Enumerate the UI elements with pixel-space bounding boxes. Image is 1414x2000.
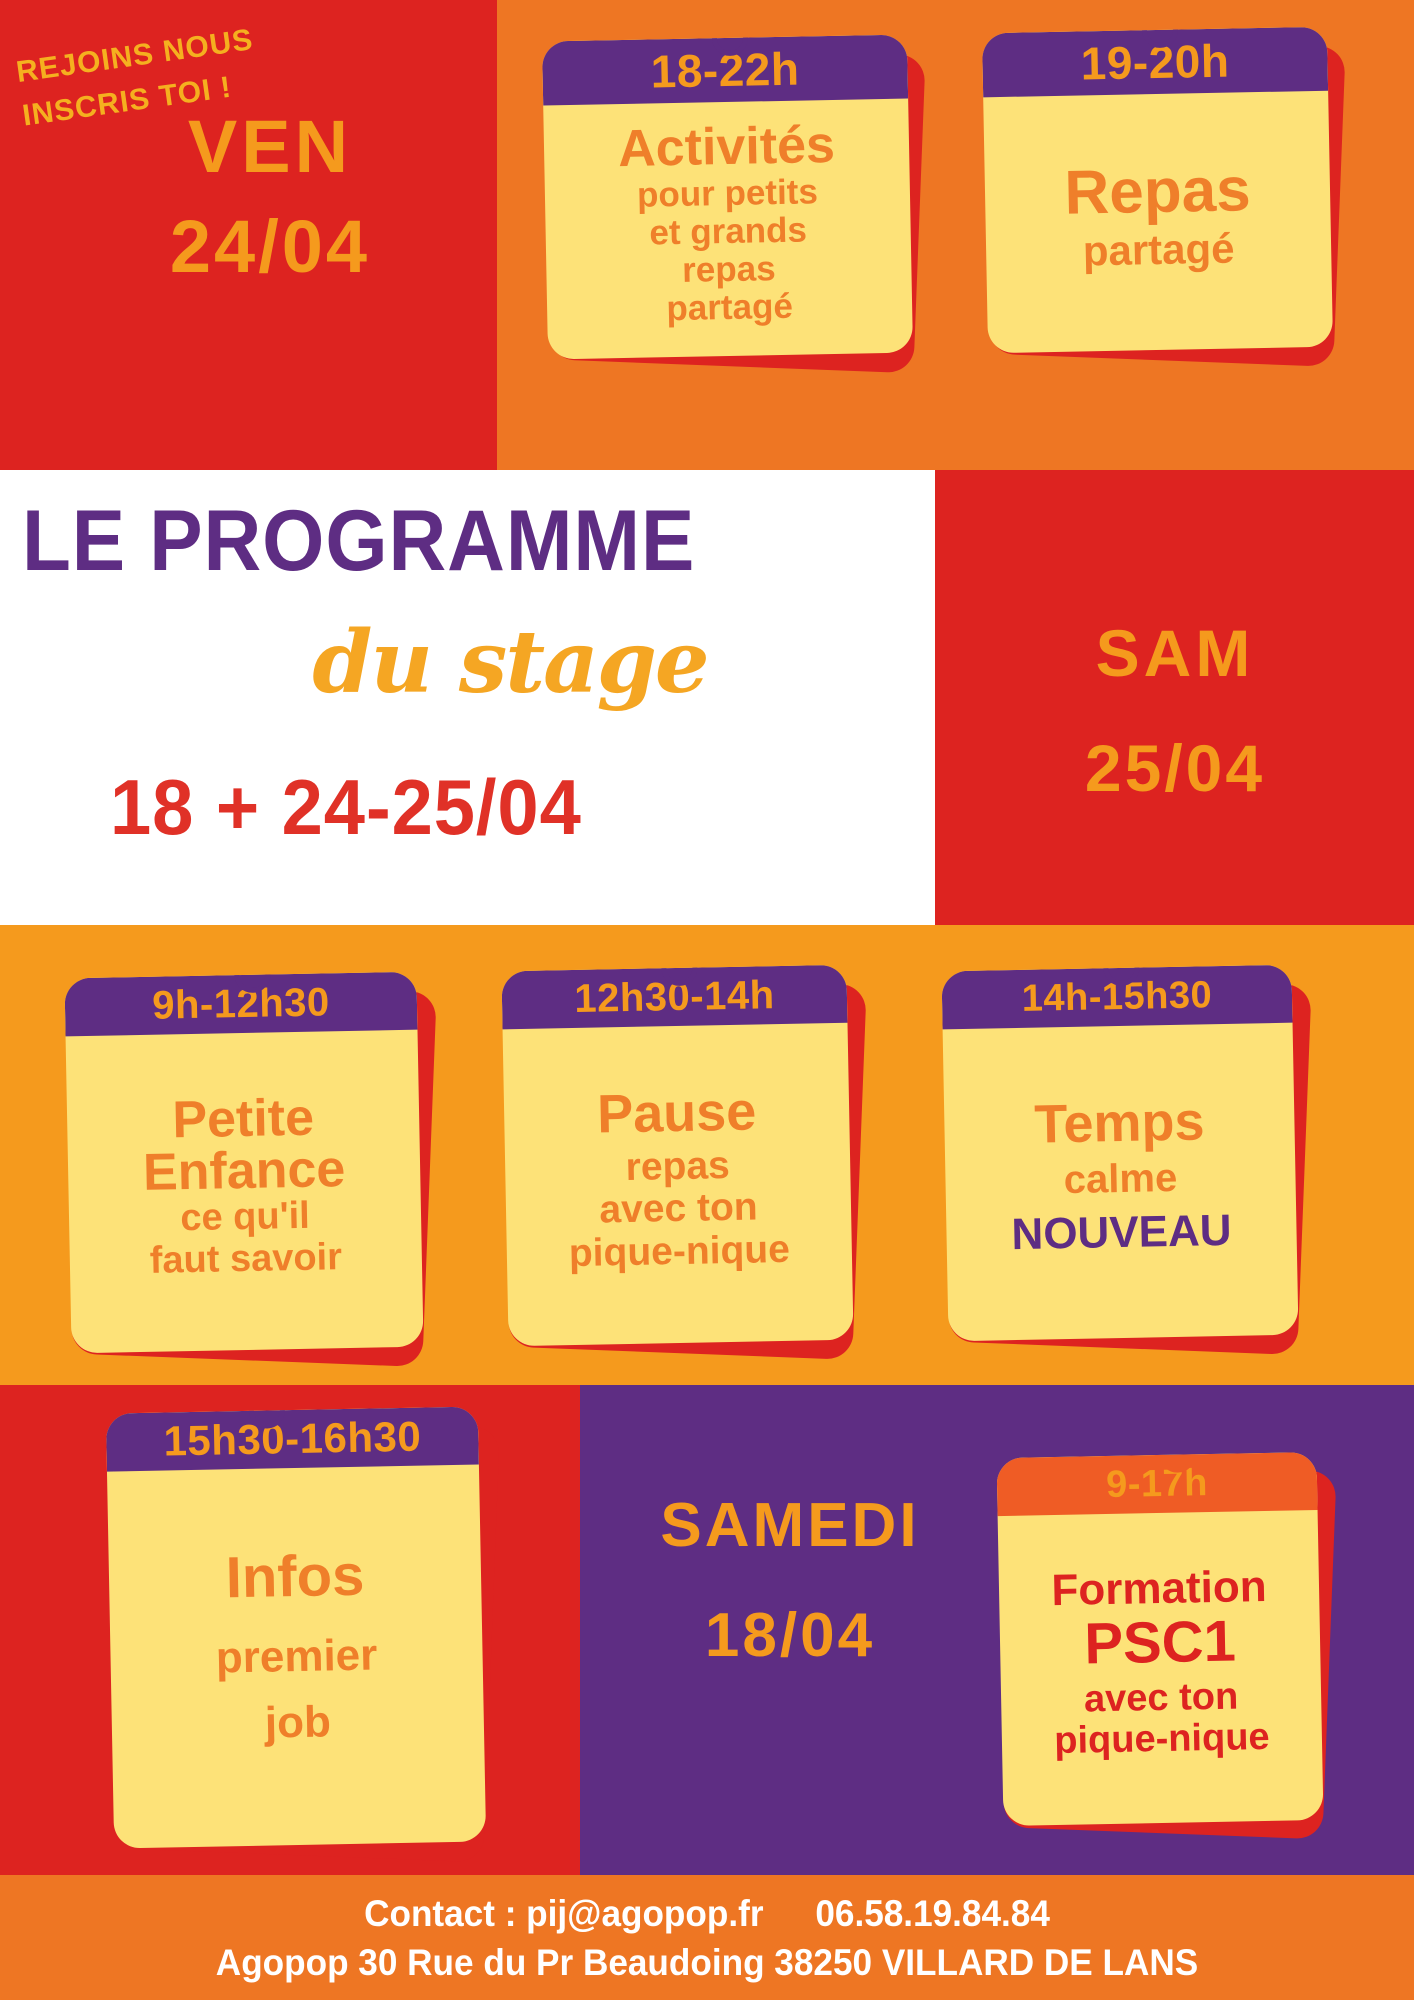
card-petite-enfance[interactable]: 9h-12h30 Petite Enfance ce qu'il faut sa…: [68, 975, 420, 1350]
card-title: Pause: [597, 1085, 757, 1142]
card-content: Repas partagé: [983, 91, 1333, 354]
card-time-header: 15h30-16h30: [106, 1406, 479, 1471]
saturday-date-label: 25/04: [960, 735, 1390, 801]
card-time-header: 12h30-14h: [501, 965, 847, 1030]
card-body: 15h30-16h30 Infos premier job: [106, 1406, 486, 1848]
footer-address: Agopop 30 Rue du Pr Beaudoing 38250 VILL…: [35, 1944, 1378, 1981]
card-title-line-2: PSC1: [1084, 1611, 1237, 1675]
poster-root: REJOINS NOUS INSCRIS TOI ! VEN 24/04 18-…: [0, 0, 1414, 2000]
footer-phone[interactable]: 06.58.19.84.84: [815, 1893, 1050, 1934]
card-line-1: calme: [1063, 1157, 1177, 1202]
card-activites[interactable]: 18-22h Activités pour petits et grands r…: [545, 38, 910, 356]
card-title: Temps: [1034, 1095, 1205, 1152]
card-line-2: et grands: [649, 212, 807, 253]
card-body: 14h-15h30 Temps calme NOUVEAU: [941, 965, 1298, 1342]
card-content: Activités pour petits et grands repas pa…: [543, 99, 913, 360]
saturday-red-panel: [935, 470, 1414, 925]
new-badge: NOUVEAU: [1011, 1207, 1232, 1260]
card-time-header: 14h-15h30: [941, 965, 1292, 1030]
page-dates: 18 + 24-25/04: [110, 768, 832, 846]
card-title-line-1: Formation: [1051, 1564, 1267, 1614]
card-line-1: repas: [625, 1145, 730, 1189]
card-line-2: job: [264, 1689, 331, 1756]
card-title-line-2: Enfance: [143, 1144, 346, 1200]
card-title: Infos: [225, 1546, 365, 1607]
card-title-line-1: Petite: [172, 1092, 315, 1147]
page-subtitle-script: du stage: [160, 620, 860, 706]
card-line-2: faut savoir: [149, 1237, 342, 1282]
footer-contact-line: Contact : pij@agopop.fr 06.58.19.84.84: [35, 1895, 1378, 1932]
card-temps-calme[interactable]: 14h-15h30 Temps calme NOUVEAU: [945, 968, 1295, 1338]
card-infos-premier-job[interactable]: 15h30-16h30 Infos premier job: [110, 1410, 482, 1845]
friday-day-label: VEN: [110, 110, 430, 184]
card-line-4: partagé: [666, 288, 793, 328]
card-content: Formation PSC1 avec ton pique-nique: [998, 1510, 1324, 1826]
card-title: Activités: [618, 119, 836, 175]
card-formation-psc1[interactable]: 9-17h Formation PSC1 avec ton pique-niqu…: [1000, 1455, 1320, 1823]
friday-date-label: 24/04: [100, 210, 440, 284]
card-time-header: 9-17h: [996, 1452, 1317, 1516]
page-title: LE PROGRAMME: [22, 498, 859, 584]
card-time-header: 9h-12h30: [64, 972, 417, 1037]
card-time-label: 9-17h: [1106, 1462, 1209, 1507]
card-line-3: pique-nique: [568, 1228, 790, 1274]
card-line-3: repas: [682, 250, 776, 290]
card-body: 9-17h Formation PSC1 avec ton pique-niqu…: [996, 1452, 1323, 1826]
saturday-day-label: SAM: [960, 620, 1390, 686]
card-pause-repas[interactable]: 12h30-14h Pause repas avec ton pique-niq…: [505, 968, 850, 1343]
samedi18-date-label: 18/04: [580, 1605, 1000, 1667]
card-line-1: pour petits: [637, 174, 819, 215]
card-content: Petite Enfance ce qu'il faut savoir: [66, 1030, 424, 1354]
card-title: Repas: [1064, 160, 1251, 226]
card-time-header: 18-22h: [542, 35, 908, 106]
card-content: Infos premier job: [107, 1464, 486, 1848]
card-body: 19-20h Repas partagé: [982, 27, 1333, 354]
card-line-1: ce qu'il: [180, 1196, 310, 1240]
card-body: 18-22h Activités pour petits et grands r…: [542, 35, 913, 360]
card-repas-partage[interactable]: 19-20h Repas partagé: [985, 30, 1330, 350]
card-line-2: avec ton: [599, 1187, 758, 1232]
footer-email[interactable]: Contact : pij@agopop.fr: [364, 1893, 763, 1934]
samedi18-day-label: SAMEDI: [580, 1495, 1000, 1557]
card-line-1: avec ton: [1084, 1676, 1239, 1720]
card-content: Temps calme NOUVEAU: [943, 1023, 1299, 1342]
card-time-header: 19-20h: [982, 27, 1328, 98]
card-time-label: 15h30-16h30: [163, 1413, 422, 1466]
card-line-1: premier: [215, 1622, 378, 1691]
card-line-1: partagé: [1082, 226, 1235, 274]
card-body: 9h-12h30 Petite Enfance ce qu'il faut sa…: [64, 972, 423, 1354]
card-content: Pause repas avec ton pique-nique: [503, 1023, 854, 1347]
card-line-2: pique-nique: [1054, 1716, 1270, 1761]
card-body: 12h30-14h Pause repas avec ton pique-niq…: [501, 965, 853, 1347]
